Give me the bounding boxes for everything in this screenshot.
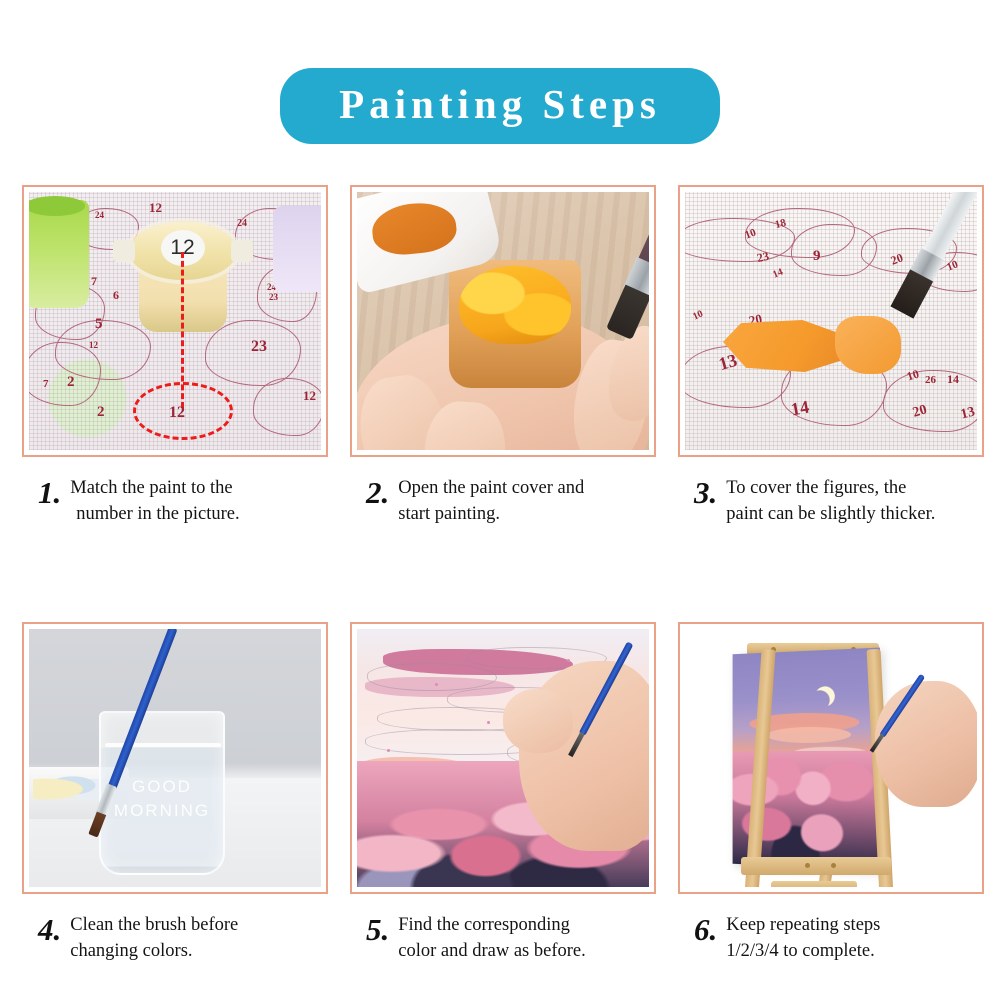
step-number: 6. [694, 912, 717, 945]
step-number: 5. [366, 912, 389, 945]
canvas-number: 7 [43, 378, 49, 390]
header-banner-wrapper: Painting Steps [0, 0, 1000, 144]
canvas-number: 26 [925, 374, 936, 386]
canvas-region-shape [253, 378, 321, 436]
step-3-photo-frame: 10 18 23 14 9 20 10 10 20 13 14 10 26 14… [678, 185, 984, 457]
step-caption-text: Keep repeating steps 1/2/3/4 to complete… [726, 912, 880, 965]
water-glass: GOOD MORNING [99, 711, 225, 875]
glass-text-line-2: MORNING [114, 801, 210, 820]
easel-screw [805, 863, 810, 868]
step-4-caption: 4. Clean the brush before changing color… [22, 894, 328, 965]
painting-in-progress-photo [357, 629, 649, 887]
step-4-photo-frame: GOOD MORNING [22, 622, 328, 894]
glass-text-line-1: GOOD [132, 777, 192, 796]
easel-lower-bar [771, 881, 857, 887]
step-6-photo-frame [678, 622, 984, 894]
canvas-number: 14 [789, 397, 810, 421]
title-banner: Painting Steps [280, 68, 720, 144]
canvas-number: 2 [97, 404, 105, 421]
purple-paint-jar [273, 206, 321, 292]
canvas-number: 5 [95, 316, 103, 333]
canvas-number: 12 [89, 340, 98, 350]
caption-line-2: 1/2/3/4 to complete. [726, 941, 875, 961]
step-caption-text: Match the paint to the number in the pic… [70, 475, 239, 528]
step-card-3: 10 18 23 14 9 20 10 10 20 13 14 10 26 14… [678, 185, 984, 528]
step-number: 3. [694, 475, 717, 508]
unpainted-outline [367, 663, 497, 691]
canvas-number: 9 [813, 248, 821, 265]
caption-line-1: Find the corresponding [398, 915, 570, 935]
finished-painting-on-easel-photo [685, 629, 977, 887]
canvas-region-shape [29, 342, 101, 406]
step-5-caption: 5. Find the corresponding color and draw… [350, 894, 656, 965]
canvas-number: 7 [91, 274, 97, 289]
background-objects [33, 771, 109, 801]
brush-covering-figures-photo: 10 18 23 14 9 20 10 10 20 13 14 10 26 14… [685, 192, 977, 450]
page-title: Painting Steps [334, 82, 666, 126]
canvas-number: 14 [947, 372, 959, 387]
step-caption-text: Find the corresponding color and draw as… [398, 912, 585, 965]
caption-line-2: start painting. [398, 504, 500, 524]
caption-line-2: number in the picture. [70, 504, 239, 524]
canvas-number: 23 [269, 292, 278, 302]
caption-line-1: Match the paint to the [70, 478, 232, 498]
step-card-4: GOOD MORNING 4. Clean the brush before c [22, 622, 328, 965]
canvas-number: 23 [251, 338, 267, 356]
circled-canvas-number: 12 [169, 404, 185, 422]
step-2-caption: 2. Open the paint cover and start painti… [350, 457, 656, 528]
step-caption-text: Clean the brush before changing colors. [70, 912, 238, 965]
step-number: 1. [38, 475, 61, 508]
hand [875, 681, 977, 807]
color-number-dot [435, 683, 438, 686]
step-number: 4. [38, 912, 61, 945]
step-card-5: 5. Find the corresponding color and draw… [350, 622, 656, 965]
caption-line-2: paint can be slightly thicker. [726, 504, 935, 524]
hand [519, 661, 649, 851]
color-number-dot [567, 659, 570, 662]
crescent-moon [812, 683, 837, 709]
steps-row-1: 12 24 2 24 7 6 5 12 2 7 2 23 12 24 23 [0, 185, 1000, 528]
step-caption-text: Open the paint cover and start painting. [398, 475, 584, 528]
open-paint-pot-photo [357, 192, 649, 450]
brush-bristles [606, 285, 649, 340]
paint-pot-number-match-photo: 12 24 2 24 7 6 5 12 2 7 2 23 12 24 23 [29, 192, 321, 450]
steps-grid: 12 24 2 24 7 6 5 12 2 7 2 23 12 24 23 [0, 185, 1000, 978]
canvas-number: 6 [113, 288, 119, 303]
clean-brush-in-glass-photo: GOOD MORNING [29, 629, 321, 887]
step-caption-text: To cover the figures, the paint can be s… [726, 475, 935, 528]
step-6-caption: 6. Keep repeating steps 1/2/3/4 to compl… [678, 894, 984, 965]
step-5-photo-frame [350, 622, 656, 894]
easel-tray-bar [741, 857, 891, 875]
step-3-caption: 3. To cover the figures, the paint can b… [678, 457, 984, 528]
orange-paint [459, 266, 571, 344]
caption-line-1: Keep repeating steps [726, 915, 880, 935]
canvas-number: 24 [95, 210, 104, 220]
canvas-number: 2 [67, 374, 75, 391]
step-card-1: 12 24 2 24 7 6 5 12 2 7 2 23 12 24 23 [22, 185, 328, 528]
caption-line-1: To cover the figures, the [726, 478, 906, 498]
steps-row-2: GOOD MORNING 4. Clean the brush before c [0, 622, 1000, 965]
caption-line-1: Open the paint cover and [398, 478, 584, 498]
caption-line-2: color and draw as before. [398, 941, 585, 961]
step-number: 2. [366, 475, 389, 508]
green-paint-jar [29, 200, 89, 308]
step-card-6: 6. Keep repeating steps 1/2/3/4 to compl… [678, 622, 984, 965]
open-paint-pot [449, 260, 581, 388]
step-card-2: 2. Open the paint cover and start painti… [350, 185, 656, 528]
step-2-photo-frame [350, 185, 656, 457]
color-number-dot [487, 721, 490, 724]
step-1-caption: 1. Match the paint to the number in the … [22, 457, 328, 528]
caption-line-2: changing colors. [70, 941, 192, 961]
painted-cloud [766, 726, 851, 743]
caption-line-1: Clean the brush before [70, 915, 238, 935]
step-1-photo-frame: 12 24 2 24 7 6 5 12 2 7 2 23 12 24 23 [22, 185, 328, 457]
easel-screw [831, 863, 836, 868]
canvas-number: 12 [303, 388, 316, 404]
color-number-dot [387, 749, 390, 752]
